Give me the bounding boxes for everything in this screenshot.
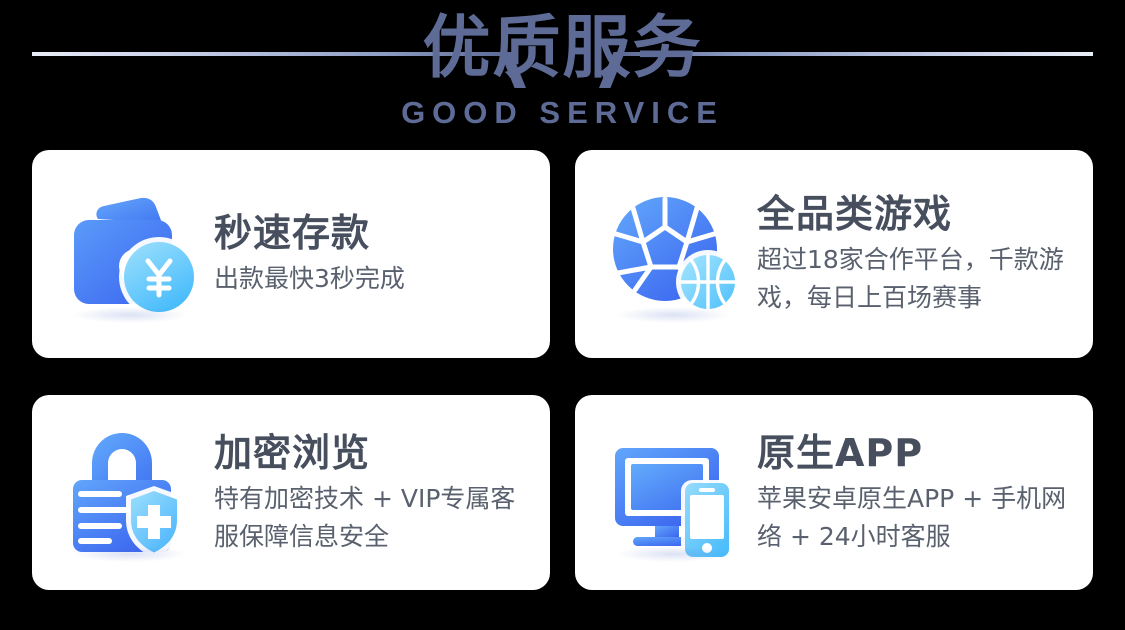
card-description: 特有加密技术 + VIP专属客服保障信息安全 (214, 480, 532, 556)
promo-banner: 优质服务 GOOD SERVICE (0, 0, 1125, 630)
wallet-yen-icon (58, 179, 210, 329)
wallet-yen-icon-svg (64, 187, 204, 321)
feature-text-encryption: 加密浏览 特有加密技术 + VIP专属客服保障信息安全 (210, 430, 532, 556)
lock-shield-icon-svg (64, 423, 204, 563)
feature-card-games[interactable]: 全品类游戏 超过18家合作平台，千款游戏，每日上百场赛事 (575, 150, 1093, 358)
soccer-basketball-icon-svg (607, 187, 747, 321)
icon-shadow (615, 546, 731, 562)
page-title: 优质服务 (0, 6, 1125, 92)
card-description: 出款最快3秒完成 (214, 260, 405, 298)
card-title: 秒速存款 (214, 210, 405, 256)
lock-shield-icon (58, 418, 210, 568)
monitor-phone-icon (601, 418, 753, 568)
card-description: 超过18家合作平台，千款游戏，每日上百场赛事 (757, 241, 1075, 317)
feature-text-games: 全品类游戏 超过18家合作平台，千款游戏，每日上百场赛事 (753, 191, 1075, 317)
card-title: 加密浏览 (214, 430, 532, 476)
card-title: 全品类游戏 (757, 191, 1075, 237)
page-subtitle: GOOD SERVICE (0, 96, 1125, 130)
banner-header: 优质服务 GOOD SERVICE (0, 0, 1125, 145)
feature-text-native-app: 原生APP 苹果安卓原生APP + 手机网络 + 24小时客服 (753, 430, 1075, 556)
icon-shadow (72, 546, 188, 562)
feature-card-encryption[interactable]: 加密浏览 特有加密技术 + VIP专属客服保障信息安全 (32, 395, 550, 590)
monitor-phone-icon-svg (607, 426, 747, 560)
icon-shadow (72, 307, 188, 323)
soccer-basketball-icon (601, 179, 753, 329)
feature-text-deposit: 秒速存款 出款最快3秒完成 (210, 210, 405, 298)
feature-card-deposit[interactable]: 秒速存款 出款最快3秒完成 (32, 150, 550, 358)
icon-shadow (615, 307, 731, 323)
feature-card-native-app[interactable]: 原生APP 苹果安卓原生APP + 手机网络 + 24小时客服 (575, 395, 1093, 590)
card-description: 苹果安卓原生APP + 手机网络 + 24小时客服 (757, 480, 1075, 556)
card-title: 原生APP (757, 430, 1075, 476)
feature-card-grid: 秒速存款 出款最快3秒完成 (32, 150, 1093, 590)
